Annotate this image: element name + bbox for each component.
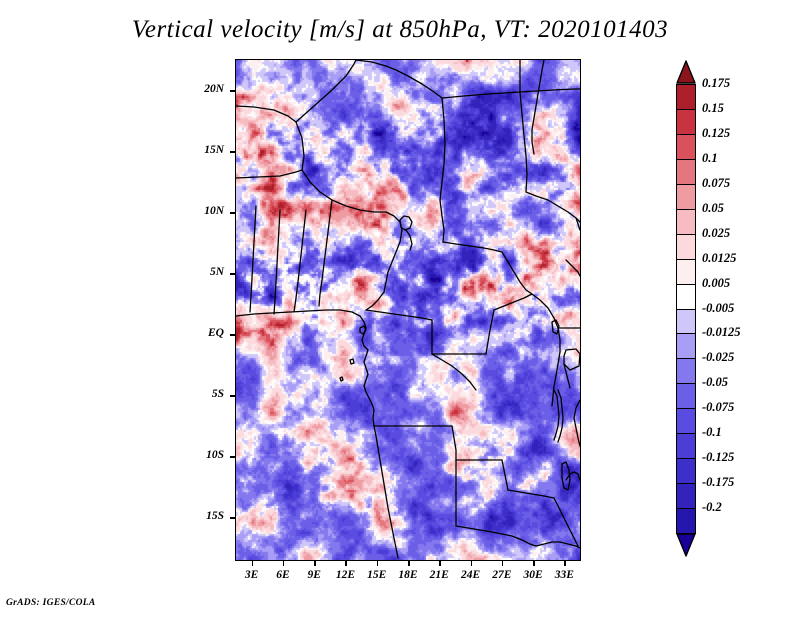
footer-credit: GrADS: IGES/COLA — [6, 598, 96, 608]
colorbar-label: -0.05 — [702, 375, 728, 390]
colorbar-label: 0.125 — [702, 126, 730, 141]
x-tick-label: 33E — [547, 569, 581, 581]
y-tick-mark — [230, 90, 236, 92]
colorbar-swatch — [676, 333, 696, 359]
y-tick-label: 10S — [178, 449, 224, 461]
colorbar-swatch — [676, 159, 696, 185]
y-tick-mark — [230, 212, 236, 214]
colorbar-swatch — [676, 234, 696, 260]
colorbar-swatch — [676, 458, 696, 484]
y-tick-label: 20N — [178, 83, 224, 95]
map-plot-area — [236, 60, 580, 560]
colorbar-label: -0.1 — [702, 425, 722, 440]
colorbar-label: 0.1 — [702, 151, 718, 166]
colorbar-swatch — [676, 109, 696, 135]
colorbar-swatch — [676, 284, 696, 310]
x-tick-mark — [377, 560, 379, 566]
colorbar-label: -0.0125 — [702, 325, 741, 340]
colorbar-swatch — [676, 259, 696, 285]
x-tick-mark — [502, 560, 504, 566]
colorbar-swatch — [676, 209, 696, 235]
colorbar-swatch — [676, 433, 696, 459]
colorbar-max-arrow — [675, 60, 697, 84]
x-tick-mark — [408, 560, 410, 566]
colorbar-label: 0.0125 — [702, 251, 736, 266]
colorbar-label: -0.2 — [702, 500, 722, 515]
colorbar[interactable]: 0.1750.150.1250.10.0750.050.0250.01250.0… — [676, 60, 696, 557]
colorbar-swatch — [676, 483, 696, 509]
colorbar-swatch — [676, 84, 696, 110]
x-tick-mark — [283, 560, 285, 566]
colorbar-label: 0.005 — [702, 276, 730, 291]
x-tick-label: 27E — [485, 569, 519, 581]
x-tick-mark — [314, 560, 316, 566]
colorbar-swatch — [676, 383, 696, 409]
y-tick-mark — [230, 334, 236, 336]
colorbar-min-arrow — [675, 533, 697, 557]
colorbar-swatch — [676, 184, 696, 210]
x-tick-label: 15E — [360, 569, 394, 581]
y-tick-mark — [230, 151, 236, 153]
x-tick-mark — [533, 560, 535, 566]
x-tick-label: 9E — [297, 569, 331, 581]
x-tick-mark — [564, 560, 566, 566]
x-tick-label: 24E — [454, 569, 488, 581]
page-title: Vertical velocity [m/s] at 850hPa, VT: 2… — [0, 16, 800, 44]
y-tick-label: 15S — [178, 510, 224, 522]
colorbar-label: 0.175 — [702, 76, 730, 91]
y-tick-label: 10N — [178, 205, 224, 217]
x-tick-mark — [252, 560, 254, 566]
y-tick-label: 5S — [178, 388, 224, 400]
x-tick-label: 18E — [391, 569, 425, 581]
country-borders-overlay — [236, 60, 580, 560]
x-tick-label: 12E — [328, 569, 362, 581]
y-tick-label: EQ — [178, 327, 224, 339]
colorbar-swatch — [676, 358, 696, 384]
colorbar-label: 0.075 — [702, 176, 730, 191]
y-tick-mark — [230, 395, 236, 397]
colorbar-label: -0.025 — [702, 350, 734, 365]
y-tick-mark — [230, 517, 236, 519]
colorbar-swatch — [676, 408, 696, 434]
x-tick-label: 21E — [422, 569, 456, 581]
colorbar-swatch — [676, 309, 696, 335]
y-tick-label: 5N — [178, 266, 224, 278]
colorbar-label: -0.005 — [702, 301, 734, 316]
colorbar-label: -0.125 — [702, 450, 734, 465]
x-tick-label: 30E — [516, 569, 550, 581]
x-tick-mark — [439, 560, 441, 566]
y-tick-label: 15N — [178, 144, 224, 156]
x-tick-mark — [345, 560, 347, 566]
colorbar-swatch — [676, 508, 696, 534]
colorbar-label: 0.15 — [702, 101, 724, 116]
y-tick-mark — [230, 456, 236, 458]
colorbar-label: 0.05 — [702, 201, 724, 216]
x-tick-label: 6E — [266, 569, 300, 581]
colorbar-label: 0.025 — [702, 226, 730, 241]
x-tick-label: 3E — [235, 569, 269, 581]
y-tick-mark — [230, 273, 236, 275]
x-tick-mark — [471, 560, 473, 566]
colorbar-label: -0.175 — [702, 475, 734, 490]
colorbar-swatch — [676, 134, 696, 160]
colorbar-label: -0.075 — [702, 400, 734, 415]
